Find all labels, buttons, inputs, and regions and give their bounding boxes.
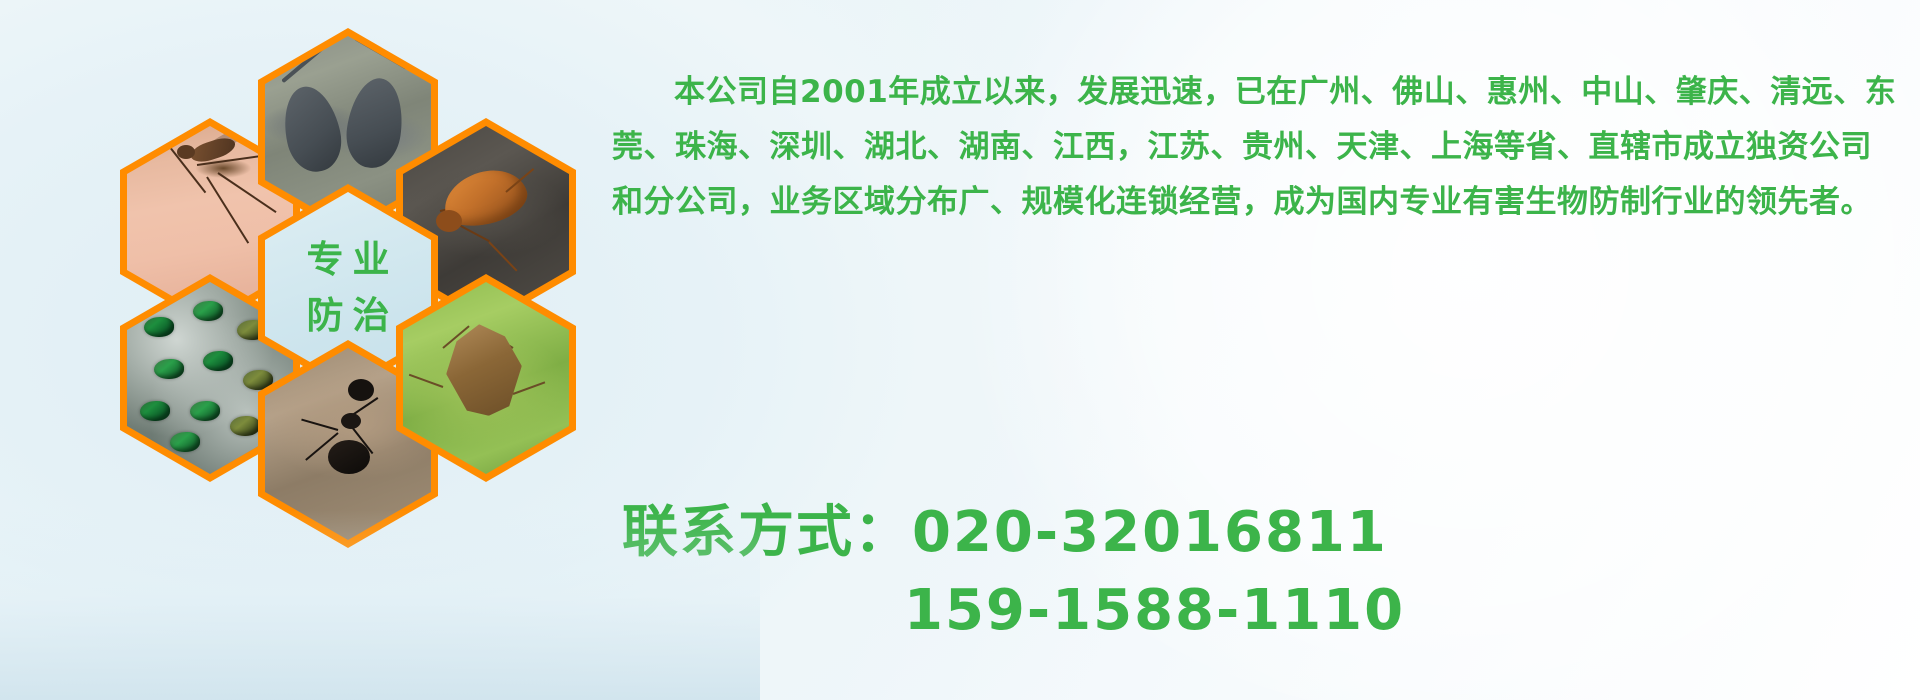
honeycomb-photo-cluster: 专业 防治 xyxy=(100,10,600,570)
intro-text-block: 本公司自2001年成立以来，发展迅速，已在广州、佛山、惠州、中山、肇庆、清远、东… xyxy=(612,34,1902,261)
slogan-line-1: 专业 xyxy=(298,232,399,288)
promo-banner: 专业 防治 本公司自2001年成立以来，发展迅速，已在广州、佛山、惠州、中山、肇… xyxy=(0,0,1920,700)
contact-phone-primary[interactable]: 联系方式：020-32016811 xyxy=(622,494,1912,572)
slogan-line-2: 防治 xyxy=(298,288,399,344)
company-intro-paragraph: 本公司自2001年成立以来，发展迅速，已在广州、佛山、惠州、中山、肇庆、清远、东… xyxy=(612,65,1902,230)
contact-block: 联系方式：020-32016811 159-1588-1110 xyxy=(622,494,1912,650)
contact-phone-secondary[interactable]: 159-1588-1110 xyxy=(622,572,1912,650)
